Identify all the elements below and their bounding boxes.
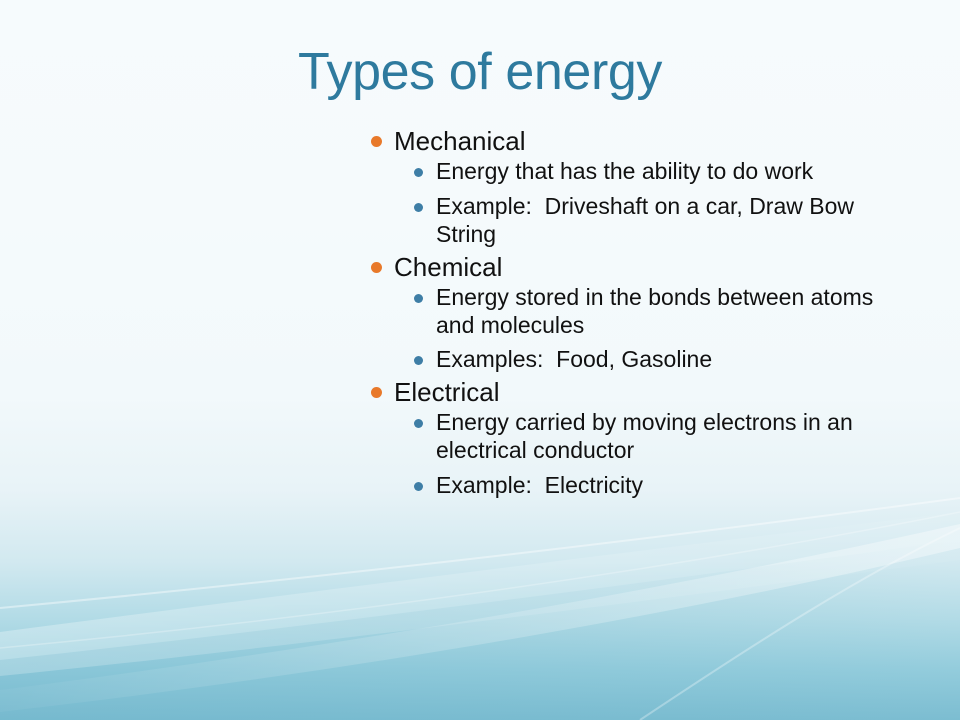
bullet-level1-label: Chemical: [394, 252, 502, 282]
bullet-level2: Energy that has the ability to do work: [410, 158, 916, 186]
bullet-level2: Energy carried by moving electrons in an…: [410, 409, 916, 465]
bullet-dot-icon: [371, 387, 382, 398]
bullet-level2-group: Energy stored in the bonds between atoms…: [368, 284, 916, 374]
bullet-level1: Chemical: [368, 252, 916, 282]
bullet-dot-icon: [414, 294, 423, 303]
bullet-dot-icon: [414, 419, 423, 428]
bullet-level2-label: Energy that has the ability to do work: [436, 158, 813, 184]
presentation-slide: Types of energy Mechanical Energy that h…: [0, 0, 960, 720]
bullet-level1-label: Electrical: [394, 377, 499, 407]
bullet-level1-label: Mechanical: [394, 126, 526, 156]
title-placeholder: Types of energy: [0, 44, 960, 100]
bullet-dot-icon: [414, 356, 423, 365]
bullet-dot-icon: [371, 262, 382, 273]
bullet-level2: Example: Electricity: [410, 472, 916, 500]
bullet-level1: Mechanical: [368, 126, 916, 156]
bullet-dot-icon: [371, 136, 382, 147]
bullet-level2: Example: Driveshaft on a car, Draw Bow S…: [410, 193, 916, 249]
bullet-level2: Energy stored in the bonds between atoms…: [410, 284, 916, 340]
bullet-dot-icon: [414, 168, 423, 177]
bullet-dot-icon: [414, 203, 423, 212]
content-placeholder: Mechanical Energy that has the ability t…: [368, 126, 916, 503]
bullet-level2-label: Example: Electricity: [436, 472, 643, 498]
bullet-dot-icon: [414, 482, 423, 491]
bullet-level2-label: Energy carried by moving electrons in an…: [436, 409, 859, 463]
bullet-level2-label: Energy stored in the bonds between atoms…: [436, 284, 880, 338]
bullet-level2-group: Energy carried by moving electrons in an…: [368, 409, 916, 499]
bullet-level2: Examples: Food, Gasoline: [410, 346, 916, 374]
bullet-level1: Electrical: [368, 377, 916, 407]
page-title: Types of energy: [298, 44, 662, 100]
bullet-level2-group: Energy that has the ability to do work E…: [368, 158, 916, 248]
bullet-level2-label: Example: Driveshaft on a car, Draw Bow S…: [436, 193, 860, 247]
bullet-level2-label: Examples: Food, Gasoline: [436, 346, 712, 372]
